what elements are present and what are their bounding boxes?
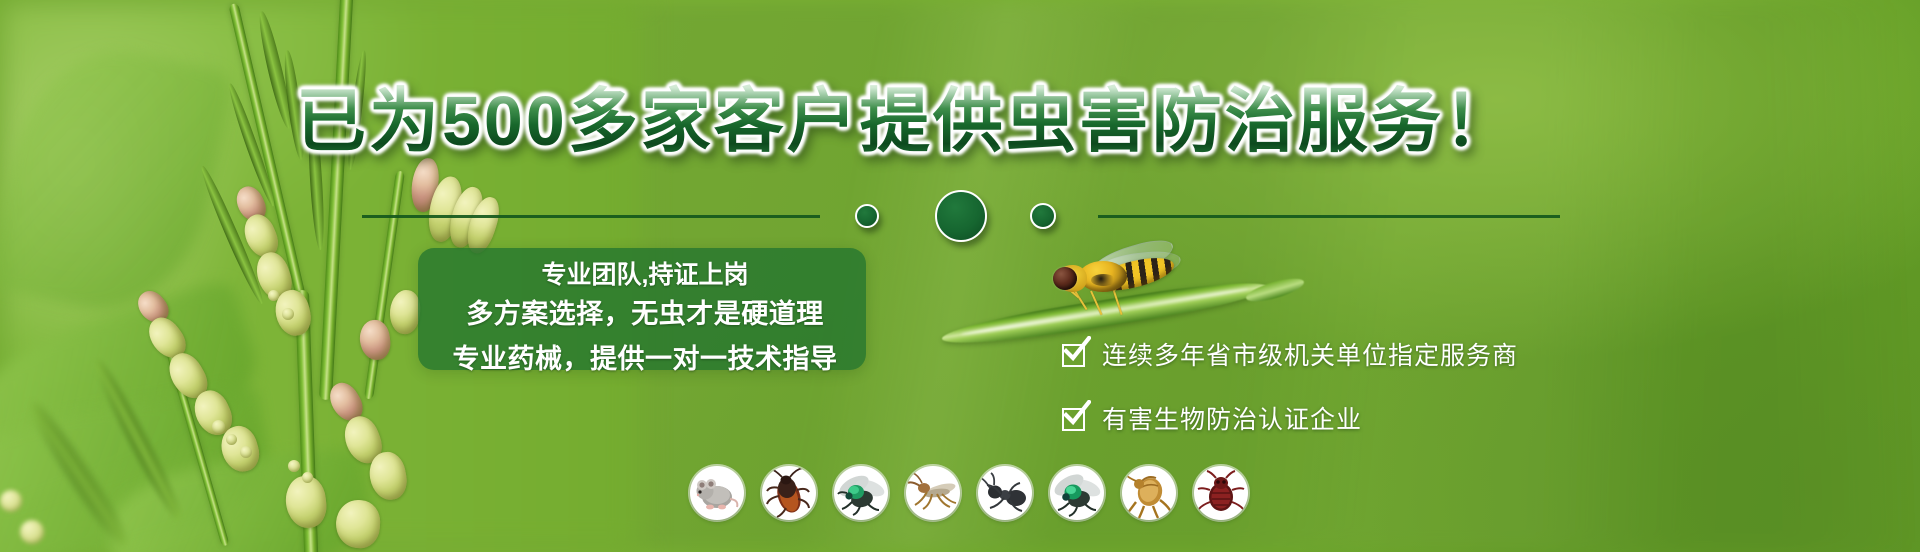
checkbox-check-icon: [1062, 341, 1088, 367]
feature-panel: [418, 248, 866, 370]
checklist-item-label: 有害生物防治认证企业: [1102, 400, 1362, 436]
flea-icon[interactable]: [1122, 466, 1176, 520]
divider-line-left: [362, 215, 820, 218]
checklist-item: 连续多年省市级机关单位指定服务商: [1062, 336, 1518, 372]
banner-headline: 已为500多家客户提供虫害防治服务！: [296, 75, 1576, 155]
promo-banner: 已为500多家客户提供虫害防治服务！ 专业团队,持证上岗 多方案选择，无虫才是硬…: [0, 0, 1920, 552]
credentials-checklist: 连续多年省市级机关单位指定服务商 有害生物防治认证企业: [1062, 336, 1518, 436]
decorative-dot-small-right: [1030, 203, 1056, 229]
divider-line-right: [1098, 215, 1560, 218]
checklist-item-label: 连续多年省市级机关单位指定服务商: [1102, 336, 1518, 372]
mosquito-icon[interactable]: [906, 466, 960, 520]
fly-icon[interactable]: [834, 466, 888, 520]
cockroach-icon[interactable]: [762, 466, 816, 520]
checklist-item: 有害生物防治认证企业: [1062, 400, 1518, 436]
decorative-dot-small-left: [855, 204, 879, 228]
hoverfly-photo: [1035, 243, 1175, 317]
decorative-dot-large: [935, 190, 987, 242]
pest-icon-row: [690, 466, 1248, 520]
checkbox-check-icon: [1062, 405, 1088, 431]
bedbug-icon[interactable]: [1194, 466, 1248, 520]
mouse-icon[interactable]: [690, 466, 744, 520]
ant-icon[interactable]: [978, 466, 1032, 520]
blowfly-icon[interactable]: [1050, 466, 1104, 520]
